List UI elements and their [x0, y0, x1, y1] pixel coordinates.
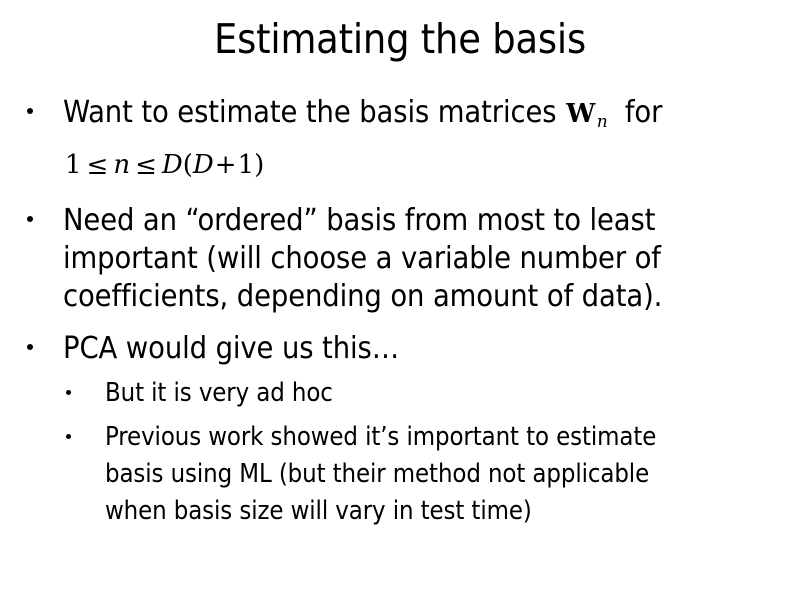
bullet-dot-icon [66, 390, 71, 395]
math-paren-close: ) [254, 150, 264, 180]
math-operator-plus: + [214, 150, 238, 180]
list-item: PCA would give us this… [0, 330, 800, 368]
spacer [0, 182, 800, 202]
math-rhs-one: 1 [238, 150, 255, 180]
math-relation-leq-1: ≤ [82, 151, 114, 181]
bullet-text: PCA would give us this… [63, 331, 399, 366]
bullet-dot-icon [27, 344, 33, 350]
math-subscript-n: n [596, 112, 608, 132]
math-lhs-one: 1 [65, 150, 82, 180]
bullet-dot-icon [27, 216, 33, 222]
sub-bullet-text: But it is very ad hoc [105, 378, 333, 408]
math-var-d2: D [193, 150, 214, 180]
list-item: Want to estimate the basis matrices Wn f… [0, 94, 800, 141]
slide-body: Want to estimate the basis matrices Wn f… [0, 94, 800, 530]
bullet-text-segment: Want to estimate the basis matrices [63, 95, 556, 130]
math-var-n: n [113, 150, 130, 180]
presentation-slide: Estimating the basis Want to estimate th… [0, 0, 800, 599]
inline-math-basis-matrix: Wn [556, 95, 607, 130]
spacer [0, 368, 800, 375]
list-item: Need an “ordered” basis from most to lea… [0, 202, 800, 316]
sub-list-item: But it is very ad hoc [0, 375, 800, 412]
bullet-text-segment-tail: for [625, 95, 662, 130]
math-paren-open: ( [183, 150, 193, 180]
spacer [0, 412, 800, 419]
sub-bullet-text: Previous work showed it’s important to e… [105, 422, 656, 526]
math-expression-range: 1≤n≤D(D+1) [0, 148, 800, 182]
spacer [0, 316, 800, 330]
math-relation-leq-2: ≤ [130, 151, 162, 181]
sub-list-item: Previous work showed it’s important to e… [0, 419, 800, 530]
bullet-text: Need an “ordered” basis from most to lea… [63, 203, 662, 314]
math-symbol-w: W [566, 99, 596, 129]
bullet-dot-icon [66, 434, 71, 439]
bullet-dot-icon [27, 108, 33, 114]
page-title: Estimating the basis [0, 14, 800, 64]
math-var-d: D [162, 150, 183, 180]
spacer [0, 141, 800, 148]
